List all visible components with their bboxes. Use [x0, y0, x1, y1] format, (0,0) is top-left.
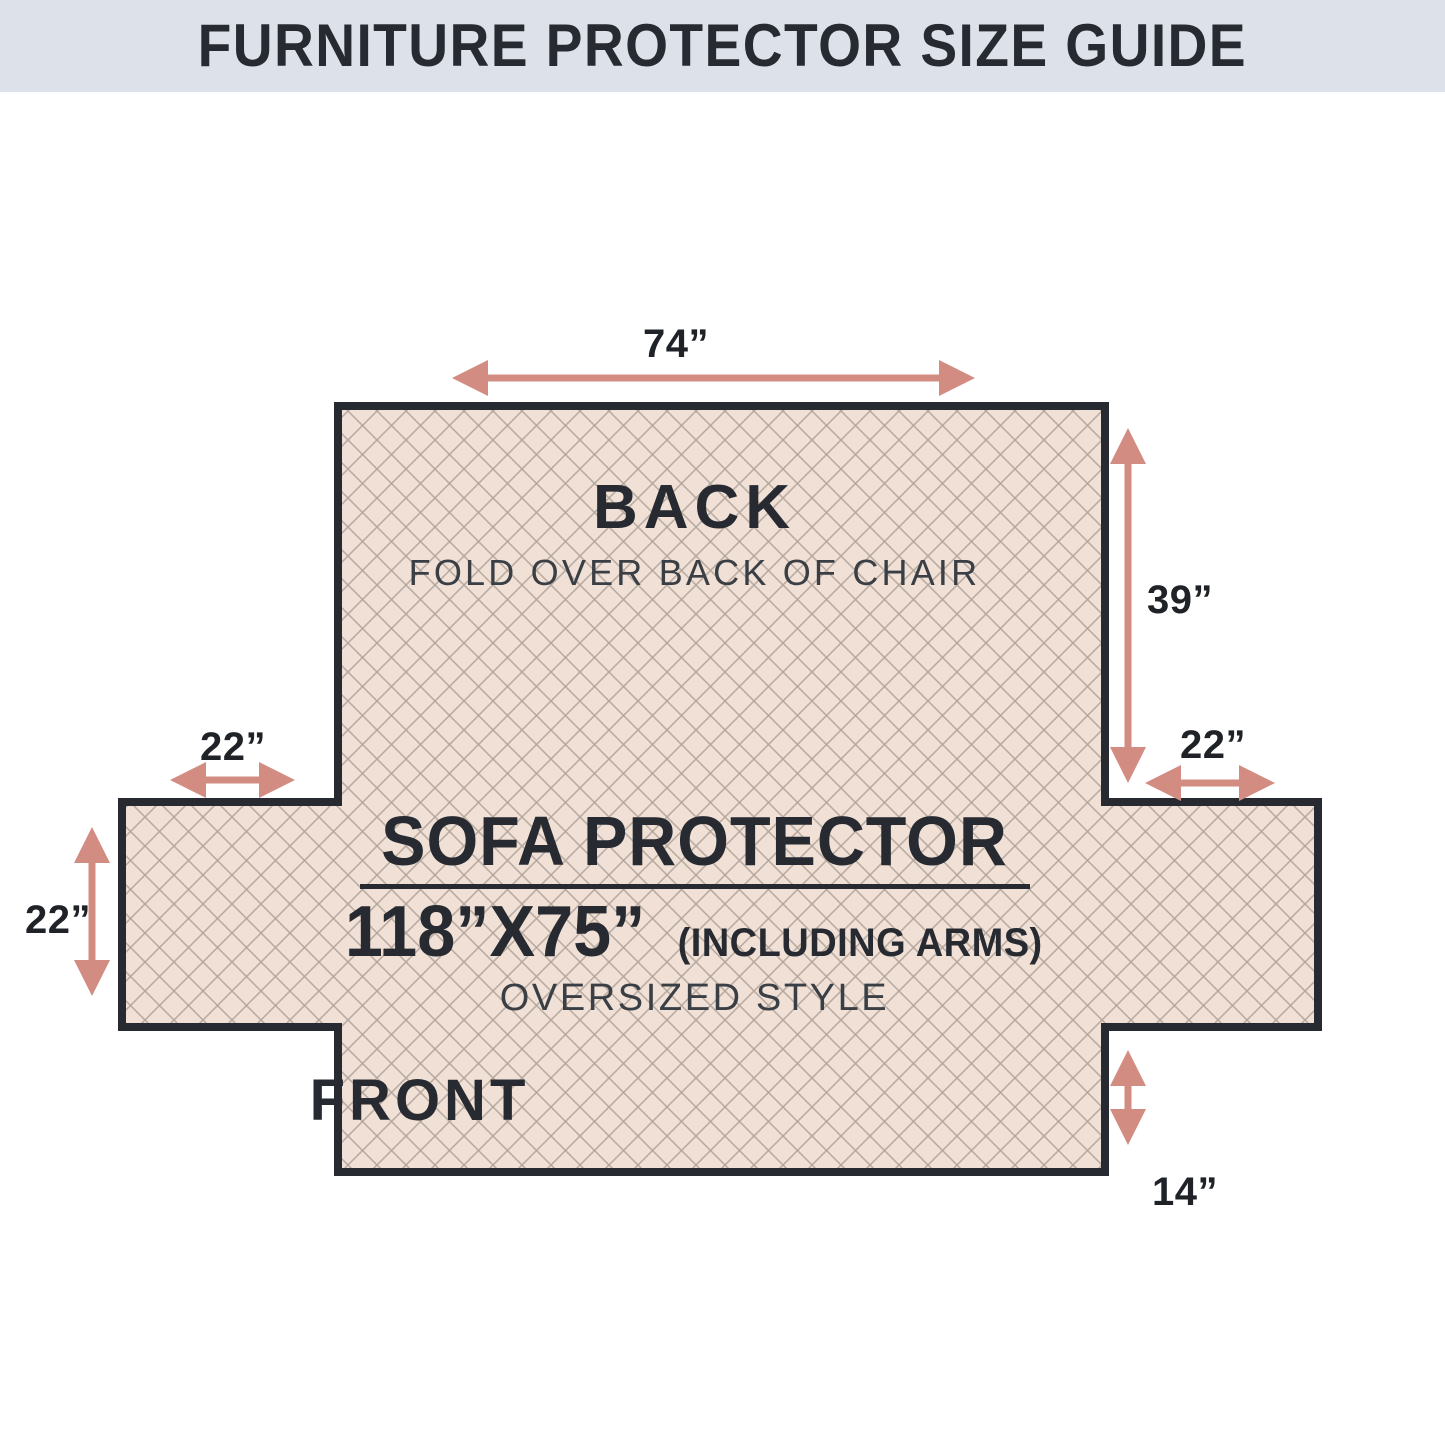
product-size: 118”X75”: [345, 893, 645, 971]
dimension-label-74: 74”: [643, 324, 709, 364]
dimension-label-22-right-top: 22”: [1180, 725, 1246, 765]
dimension-label-22-left-side: 22”: [25, 900, 91, 940]
title-divider: [360, 884, 1030, 889]
dimension-label-14: 14”: [1152, 1172, 1218, 1212]
dimension-label-39: 39”: [1147, 580, 1213, 620]
page-title: FURNITURE PROTECTOR SIZE GUIDE: [198, 16, 1247, 76]
product-title: SOFA PROTECTOR: [8, 804, 1381, 878]
dimension-label-22-left-top: 22”: [200, 727, 266, 767]
dimension-arrow-22-right-top: [1145, 765, 1275, 801]
product-size-row: 118”X75” (INCLUDING ARMS): [0, 893, 1417, 971]
product-info-block: SOFA PROTECTOR 118”X75” (INCLUDING ARMS)…: [0, 804, 1417, 1019]
dimension-arrow-74: [452, 360, 975, 396]
header-band: FURNITURE PROTECTOR SIZE GUIDE: [0, 0, 1445, 92]
back-label: BACK: [0, 477, 1417, 539]
product-size-note: (INCLUDING ARMS): [677, 921, 1042, 965]
front-label: FRONT: [0, 1072, 1142, 1130]
product-style: OVERSIZED STYLE: [0, 977, 1417, 1019]
diagram-stage: BACK FOLD OVER BACK OF CHAIR SOFA PROTEC…: [0, 92, 1445, 1445]
size-guide-page: FURNITURE PROTECTOR SIZE GUIDE: [0, 0, 1445, 1445]
